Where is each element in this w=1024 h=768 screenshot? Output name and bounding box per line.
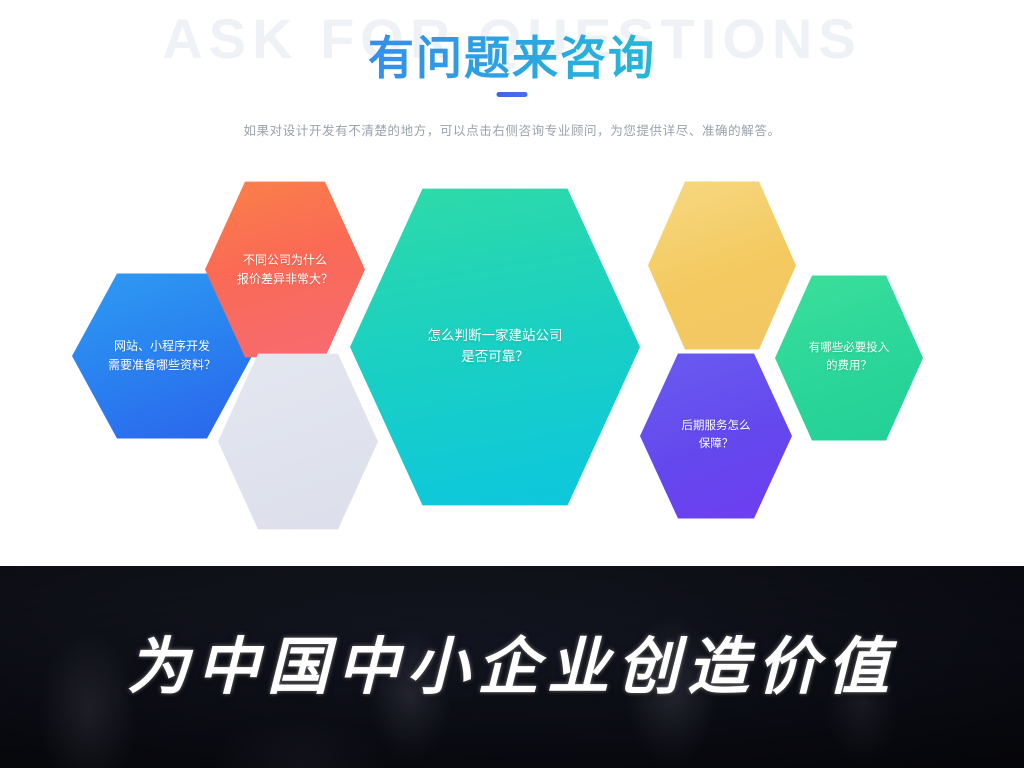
hexagon-card-after-sales-service[interactable]: 后期服务怎么 保障？ xyxy=(640,350,792,522)
title-underline-divider xyxy=(497,92,528,97)
hexagon-line-1: 有哪些必要投入 xyxy=(809,340,890,358)
banner-slogan: 为中国中小企业创造价值 xyxy=(0,616,1024,706)
hexagon-cluster: 网站、小程序开发 需要准备哪些资料？ 不同公司为什么 报价差异非常大？ 怎么判断… xyxy=(0,160,1024,560)
hexagon-line-2: 需要准备哪些资料？ xyxy=(108,356,216,375)
hexagon-line-1: 网站、小程序开发 xyxy=(114,337,210,356)
hexagon-card-empty-gold[interactable] xyxy=(648,178,796,353)
hexagon-line-2: 的费用？ xyxy=(826,358,872,376)
hexagon-line-1: 不同公司为什么 xyxy=(243,251,327,270)
hexagon-line-2: 是否可靠？ xyxy=(461,347,529,368)
hexagon-card-empty-gray[interactable] xyxy=(218,350,378,533)
hexagon-line-1: 后期服务怎么 xyxy=(682,418,751,436)
hexagon-card-necessary-costs[interactable]: 有哪些必要投入 的费用？ xyxy=(775,272,923,444)
page-title: 有问题来咨询 xyxy=(0,22,1024,88)
hexagon-card-reliable-company[interactable]: 怎么判断一家建站公司 是否可靠？ xyxy=(350,182,640,512)
bottom-banner: 为中国中小企业创造价值 xyxy=(0,566,1024,768)
hexagon-line-2: 保障？ xyxy=(699,436,734,454)
hexagon-line-2: 报价差异非常大？ xyxy=(237,270,333,289)
page-header: ASK FOR QUESTIONS 有问题来咨询 如果对设计开发有不清楚的地方，… xyxy=(0,0,1024,160)
hexagon-line-1: 怎么判断一家建站公司 xyxy=(428,326,563,347)
page-subtitle: 如果对设计开发有不清楚的地方，可以点击右侧咨询专业顾问，为您提供详尽、准确的解答… xyxy=(0,120,1024,139)
